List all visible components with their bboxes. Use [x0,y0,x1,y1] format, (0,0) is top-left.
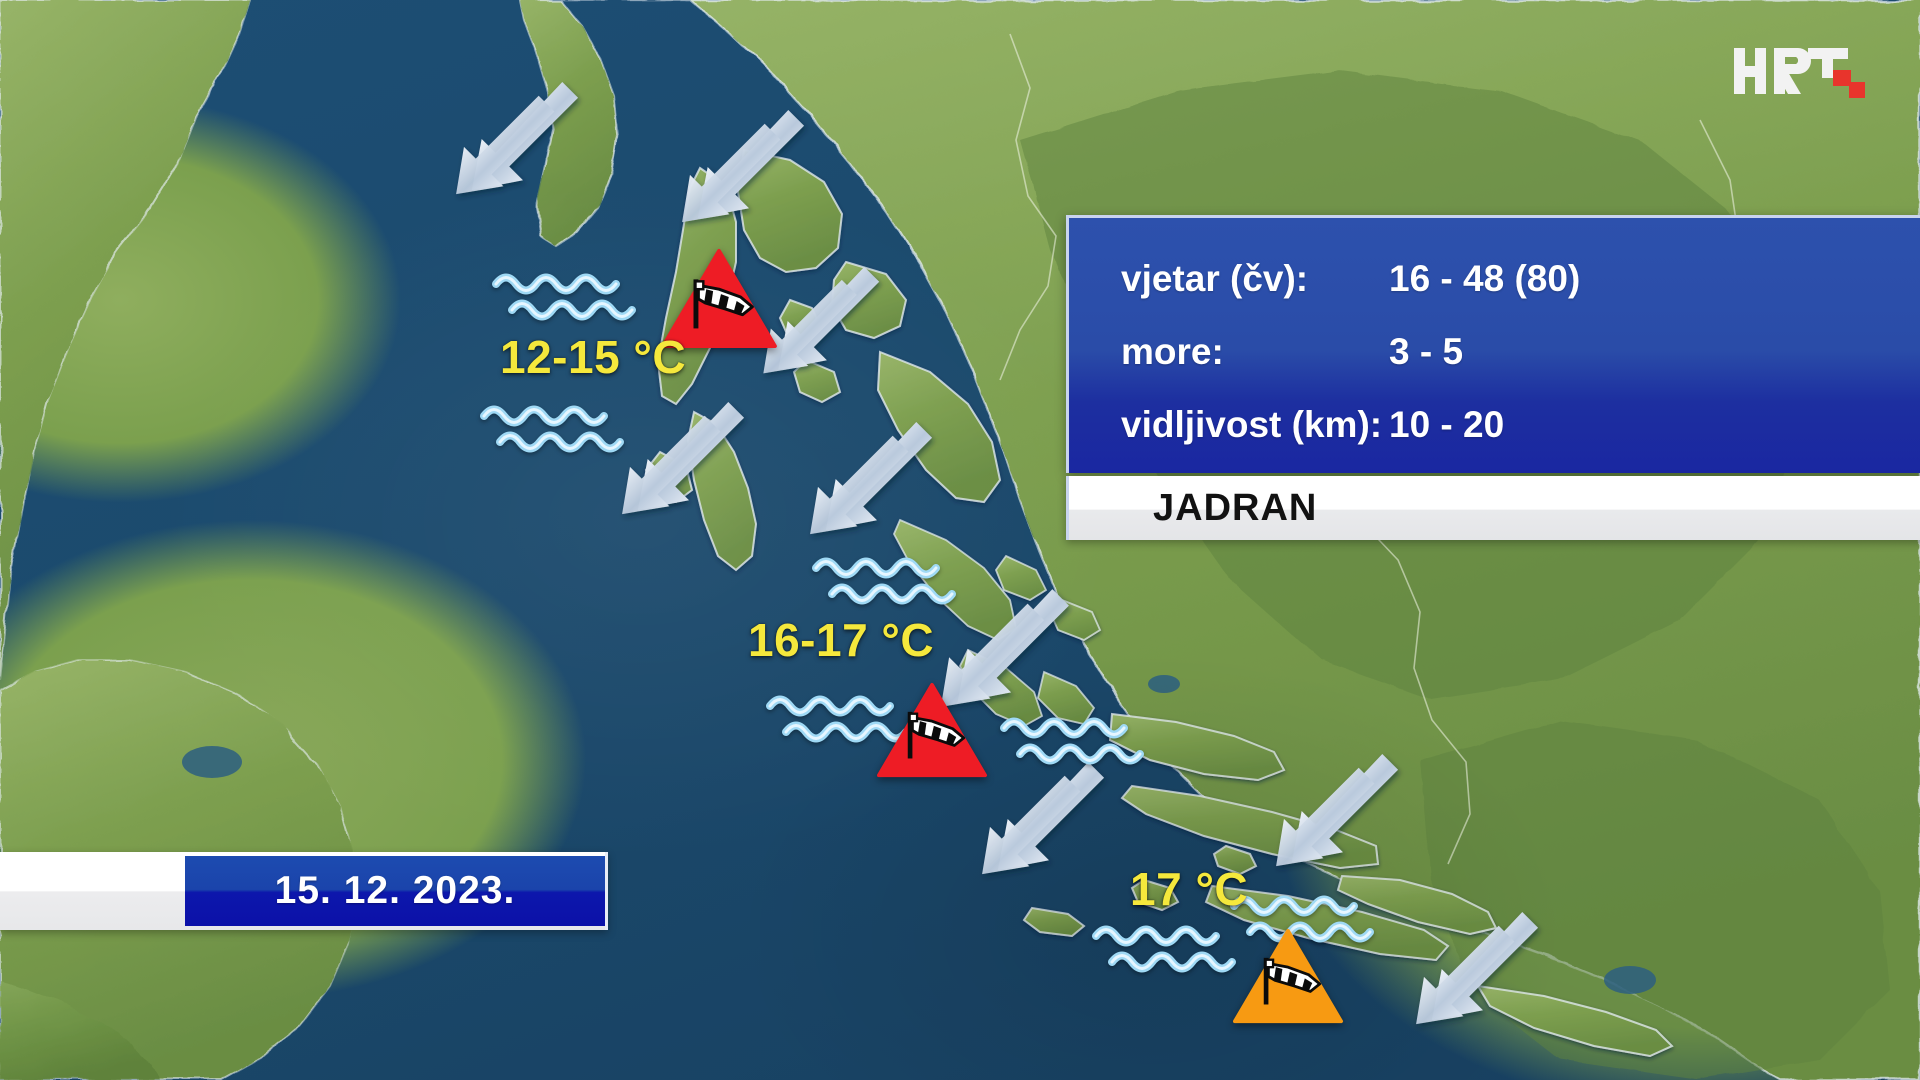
sea-state-wave-icon [812,552,962,615]
wind-direction-arrow [1282,752,1400,870]
forecast-label-sea: more: [1121,333,1389,370]
forecast-value-visibility: 10 - 20 [1389,406,1504,443]
forecast-row-visibility: vidljivost (km): 10 - 20 [1121,406,1920,443]
wind-warning-red-icon [876,682,988,784]
date-text: 15. 12. 2023. [275,869,516,913]
sea-state-wave-icon [492,268,642,331]
hrt-logo [1732,40,1882,102]
sea-state-wave-icon [1000,712,1150,775]
wind-direction-arrow [688,108,806,226]
wind-direction-arrow [816,420,934,538]
wind-direction-arrow [988,760,1106,878]
date-chip: 15. 12. 2023. [185,856,605,926]
wind-direction-arrow [462,80,580,198]
lake-west [182,746,242,778]
sea-state-wave-icon [1092,920,1242,983]
lake-south [1604,966,1656,994]
sea-temperature-label: 16-17 °C [748,613,934,667]
forecast-value-sea: 3 - 5 [1389,333,1463,370]
lake-central [1148,675,1180,693]
forecast-label-visibility: vidljivost (km): [1121,406,1389,443]
forecast-label-wind: vjetar (čv): [1121,260,1389,297]
wind-direction-arrow [769,265,881,377]
wind-warning-orange-icon [1232,928,1344,1030]
forecast-row-sea: more: 3 - 5 [1121,333,1920,370]
forecast-value-wind: 16 - 48 (80) [1389,260,1580,297]
wind-direction-arrow [1422,910,1540,1028]
land-italy-north [0,0,250,680]
region-title-bar: JADRAN [1066,476,1920,540]
hrt-logo-icon [1732,40,1882,102]
sea-temperature-label: 17 °C [1130,862,1248,916]
island-vis [1024,908,1084,936]
weather-map-screen: 12-15 °C16-17 °C17 °C vjetar (čv): 16 - … [0,0,1920,1080]
sea-temperature-label: 12-15 °C [500,330,686,384]
sea-state-wave-icon [480,400,630,463]
wind-direction-arrow [628,400,746,518]
marine-forecast-panel: vjetar (čv): 16 - 48 (80) more: 3 - 5 vi… [1066,215,1920,473]
forecast-row-wind: vjetar (čv): 16 - 48 (80) [1121,260,1920,297]
region-title: JADRAN [1153,487,1317,530]
